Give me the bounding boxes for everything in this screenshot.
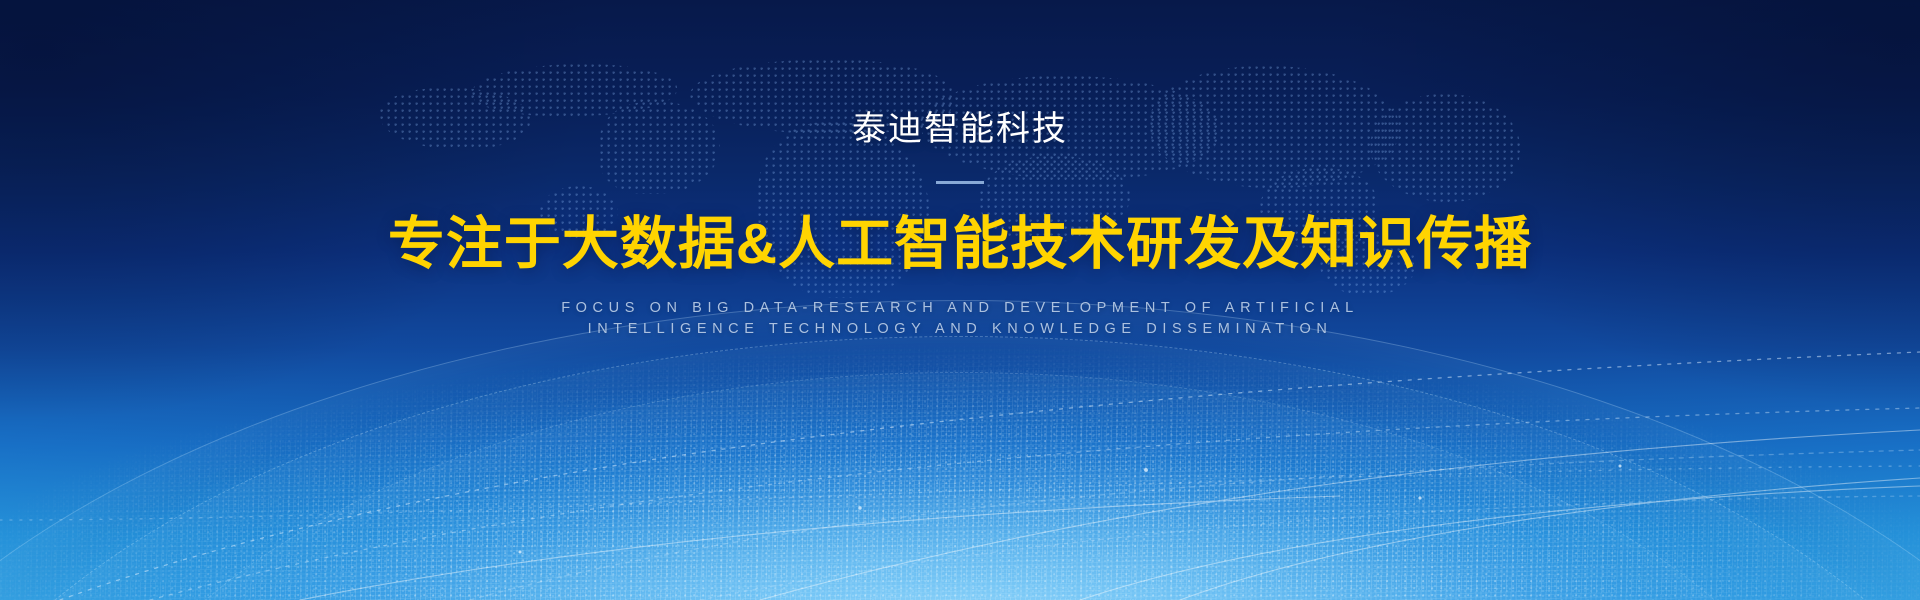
banner-content: 泰迪智能科技 专注于大数据&人工智能技术研发及知识传播 FOCUS ON BIG…: [0, 0, 1920, 340]
headline: 专注于大数据&人工智能技术研发及知识传播: [0, 214, 1920, 276]
subtitle: FOCUS ON BIG DATA-RESEARCH AND DEVELOPME…: [0, 298, 1920, 340]
night-city-skyline-icon: [0, 300, 1920, 600]
subtitle-line-1: FOCUS ON BIG DATA-RESEARCH AND DEVELOPME…: [0, 298, 1920, 319]
title-divider: [936, 181, 984, 184]
subtitle-line-2: INTELLIGENCE TECHNOLOGY AND KNOWLEDGE DI…: [0, 319, 1920, 340]
brand-title: 泰迪智能科技: [0, 112, 1920, 146]
city-glow-haze: [0, 300, 1920, 600]
hero-banner: 泰迪智能科技 专注于大数据&人工智能技术研发及知识传播 FOCUS ON BIG…: [0, 0, 1920, 600]
